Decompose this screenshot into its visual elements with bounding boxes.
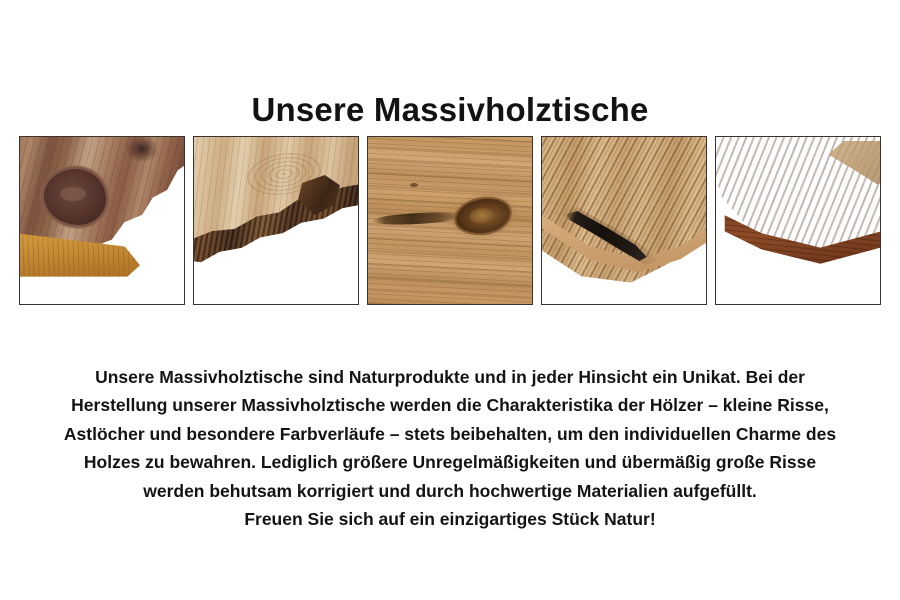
image-gallery — [19, 136, 881, 305]
body-line-5: werden behutsam korrigiert und durch hoc… — [0, 477, 900, 506]
body-line-3: Astlöcher und besondere Farbverläufe – s… — [0, 420, 900, 449]
wood-photo-sheesham-corner — [716, 137, 880, 304]
gallery-image-5[interactable] — [715, 136, 881, 305]
wood-photo-corner-walnut — [20, 137, 184, 304]
wood-photo-live-edge-light — [194, 137, 358, 304]
body-line-2: Herstellung unserer Massivholztische wer… — [0, 391, 900, 420]
body-line-6: Freuen Sie sich auf ein einzigartiges St… — [0, 505, 900, 534]
gallery-image-4[interactable] — [541, 136, 707, 305]
wood-photo-sawn-board-filled-crack — [542, 137, 706, 304]
wood-photo-grain-knot — [368, 137, 532, 304]
gallery-image-3[interactable] — [367, 136, 533, 305]
body-line-1: Unsere Massivholztische sind Naturproduk… — [0, 363, 900, 392]
body-paragraph: Unsere Massivholztische sind Naturproduk… — [0, 363, 900, 535]
body-line-4: Holzes zu bewahren. Lediglich größere Un… — [0, 448, 900, 477]
page-title: Unsere Massivholztische — [0, 90, 900, 130]
gallery-image-1[interactable] — [19, 136, 185, 305]
gallery-image-2[interactable] — [193, 136, 359, 305]
